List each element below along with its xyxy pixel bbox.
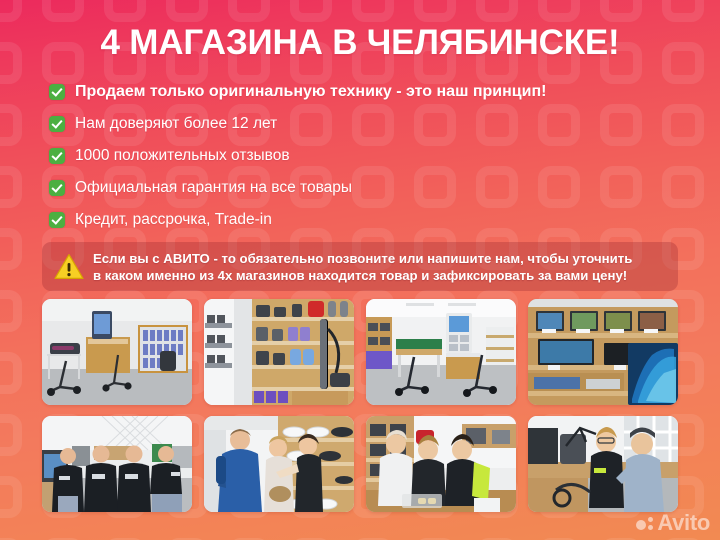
- photo-grid: Store interior with counter, scooter and…: [42, 299, 678, 512]
- warning-notice-text: Если вы с АВИТО - то обязательно позвони…: [93, 250, 632, 284]
- list-item-label: Продаем только оригинальную технику - эт…: [75, 82, 546, 101]
- photo-thumbnail[interactable]: Customers looking at robot vacuums with …: [204, 416, 354, 512]
- list-item-label: Кредит, рассрочка, Trade-in: [75, 210, 272, 229]
- list-item: Продаем только оригинальную технику - эт…: [49, 76, 679, 107]
- feature-list: Продаем только оригинальную технику - эт…: [49, 76, 679, 236]
- avito-watermark: Avito: [636, 512, 710, 534]
- warning-notice-line-1: Если вы с АВИТО - то обязательно позвони…: [93, 250, 632, 267]
- check-icon: [49, 180, 65, 196]
- photo-thumbnail[interactable]: Shelving with vacuum cleaners, irons and…: [204, 299, 354, 405]
- photo-thumbnail[interactable]: Store interior with counter, scooter and…: [42, 299, 192, 405]
- warning-notice: Если вы с АВИТО - то обязательно позвони…: [42, 242, 678, 291]
- warning-notice-line-2: в каком именно из 4х магазинов находится…: [93, 267, 632, 284]
- list-item: Нам доверяют более 12 лет: [49, 108, 679, 139]
- list-item: Официальная гарантия на все товары: [49, 172, 679, 203]
- page-title: 4 МАГАЗИНА В ЧЕЛЯБИНСКЕ!: [0, 24, 720, 62]
- list-item-label: Официальная гарантия на все товары: [75, 178, 352, 197]
- check-icon: [49, 148, 65, 164]
- list-item: Кредит, рассрочка, Trade-in: [49, 204, 679, 235]
- listing-promo-banner: 4 МАГАЗИНА В ЧЕЛЯБИНСКЕ! Продаем только …: [0, 0, 720, 540]
- list-item: 1000 положительных отзывов: [49, 140, 679, 171]
- avito-dots-logo-icon: [636, 516, 655, 531]
- photo-thumbnail[interactable]: Four staff members in black branded t-sh…: [42, 416, 192, 512]
- check-icon: [49, 116, 65, 132]
- list-item-label: 1000 положительных отзывов: [75, 146, 290, 165]
- photo-thumbnail[interactable]: Staff member assisting an older customer…: [528, 416, 678, 512]
- photo-thumbnail[interactable]: Three women customers at the counter wit…: [366, 416, 516, 512]
- photo-thumbnail[interactable]: Wall of televisions on wooden shelving: [528, 299, 678, 405]
- list-item-label: Нам доверяют более 12 лет: [75, 114, 277, 133]
- warning-triangle-icon: [54, 253, 84, 280]
- check-icon: [49, 212, 65, 228]
- avito-watermark-label: Avito: [657, 512, 710, 534]
- check-icon: [49, 84, 65, 100]
- photo-thumbnail[interactable]: Showroom aisle with electric scooters an…: [366, 299, 516, 405]
